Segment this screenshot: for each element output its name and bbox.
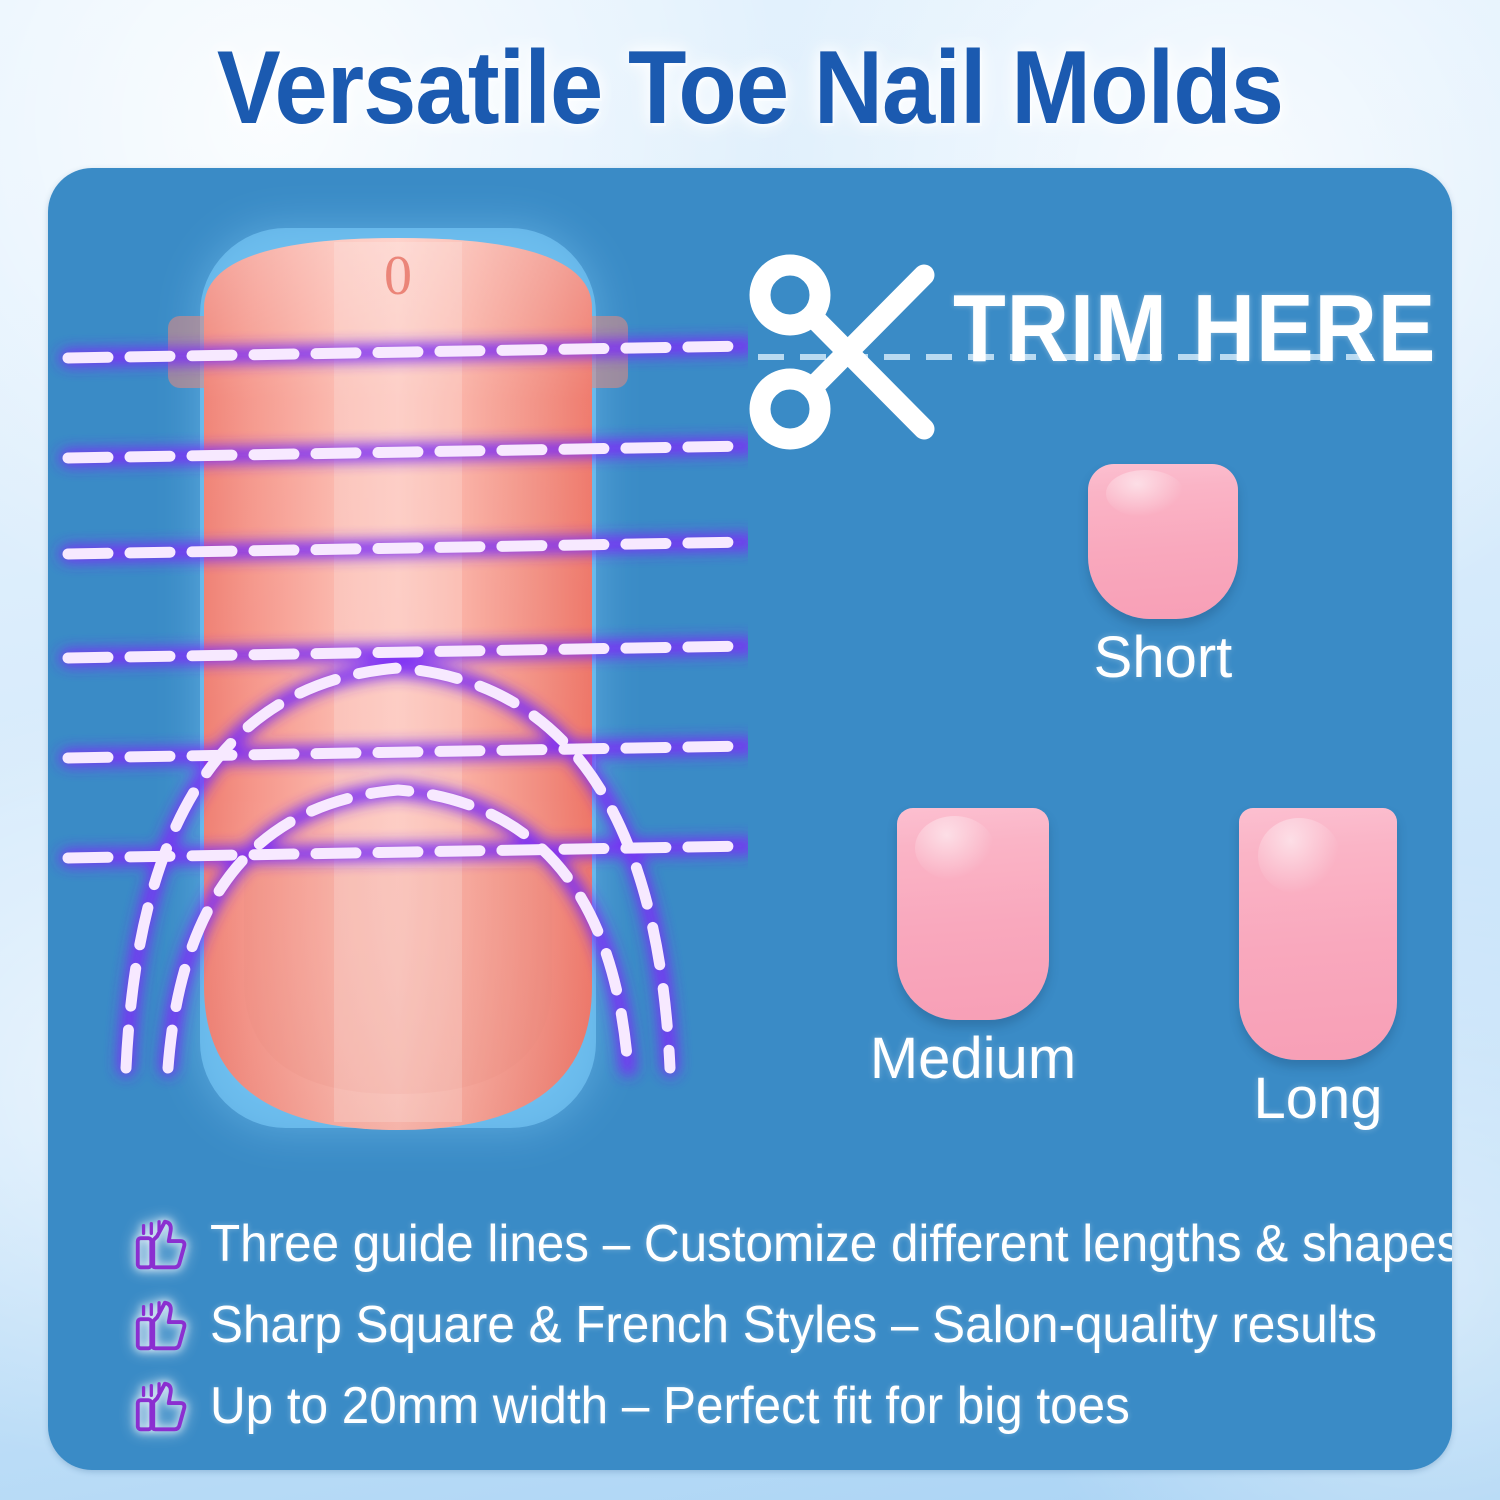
thumbs-up-icon [130,1213,192,1275]
nail-shape-short [1088,464,1238,619]
nail-label-medium: Medium [848,1030,1098,1088]
mold-marking-zero: 0 [384,245,412,307]
thumbs-up-icon [130,1294,192,1356]
nail-shape-medium [897,808,1049,1020]
feature-item: Sharp Square & French Styles – Salon-qua… [130,1284,1420,1365]
infographic-page: Versatile Toe Nail Molds [0,0,1500,1500]
scissors-icon [748,253,958,451]
nail-label-long: Long [1188,1070,1448,1128]
nail-mold-diagram: 0 [48,168,748,1188]
sample-nail-short: Short [1038,464,1288,687]
sample-nail-long: Long [1188,808,1448,1128]
trim-here-block: TRIM HERE [748,253,1438,463]
feature-text: Up to 20mm width – Perfect fit for big t… [210,1380,1130,1432]
feature-item: Up to 20mm width – Perfect fit for big t… [130,1365,1420,1446]
feature-text: Sharp Square & French Styles – Salon-qua… [210,1299,1377,1351]
feature-list: Three guide lines – Customize different … [130,1203,1420,1446]
mold-body [204,238,592,1130]
thumbs-up-icon [130,1375,192,1437]
trim-here-label: TRIM HERE [953,281,1436,377]
nail-label-short: Short [1038,629,1288,687]
sample-nail-medium: Medium [848,808,1098,1088]
feature-text: Three guide lines – Customize different … [210,1218,1452,1270]
feature-item: Three guide lines – Customize different … [130,1203,1420,1284]
nail-shape-long [1239,808,1397,1060]
page-title: Versatile Toe Nail Molds [60,36,1440,140]
content-card: 0 [48,168,1452,1470]
